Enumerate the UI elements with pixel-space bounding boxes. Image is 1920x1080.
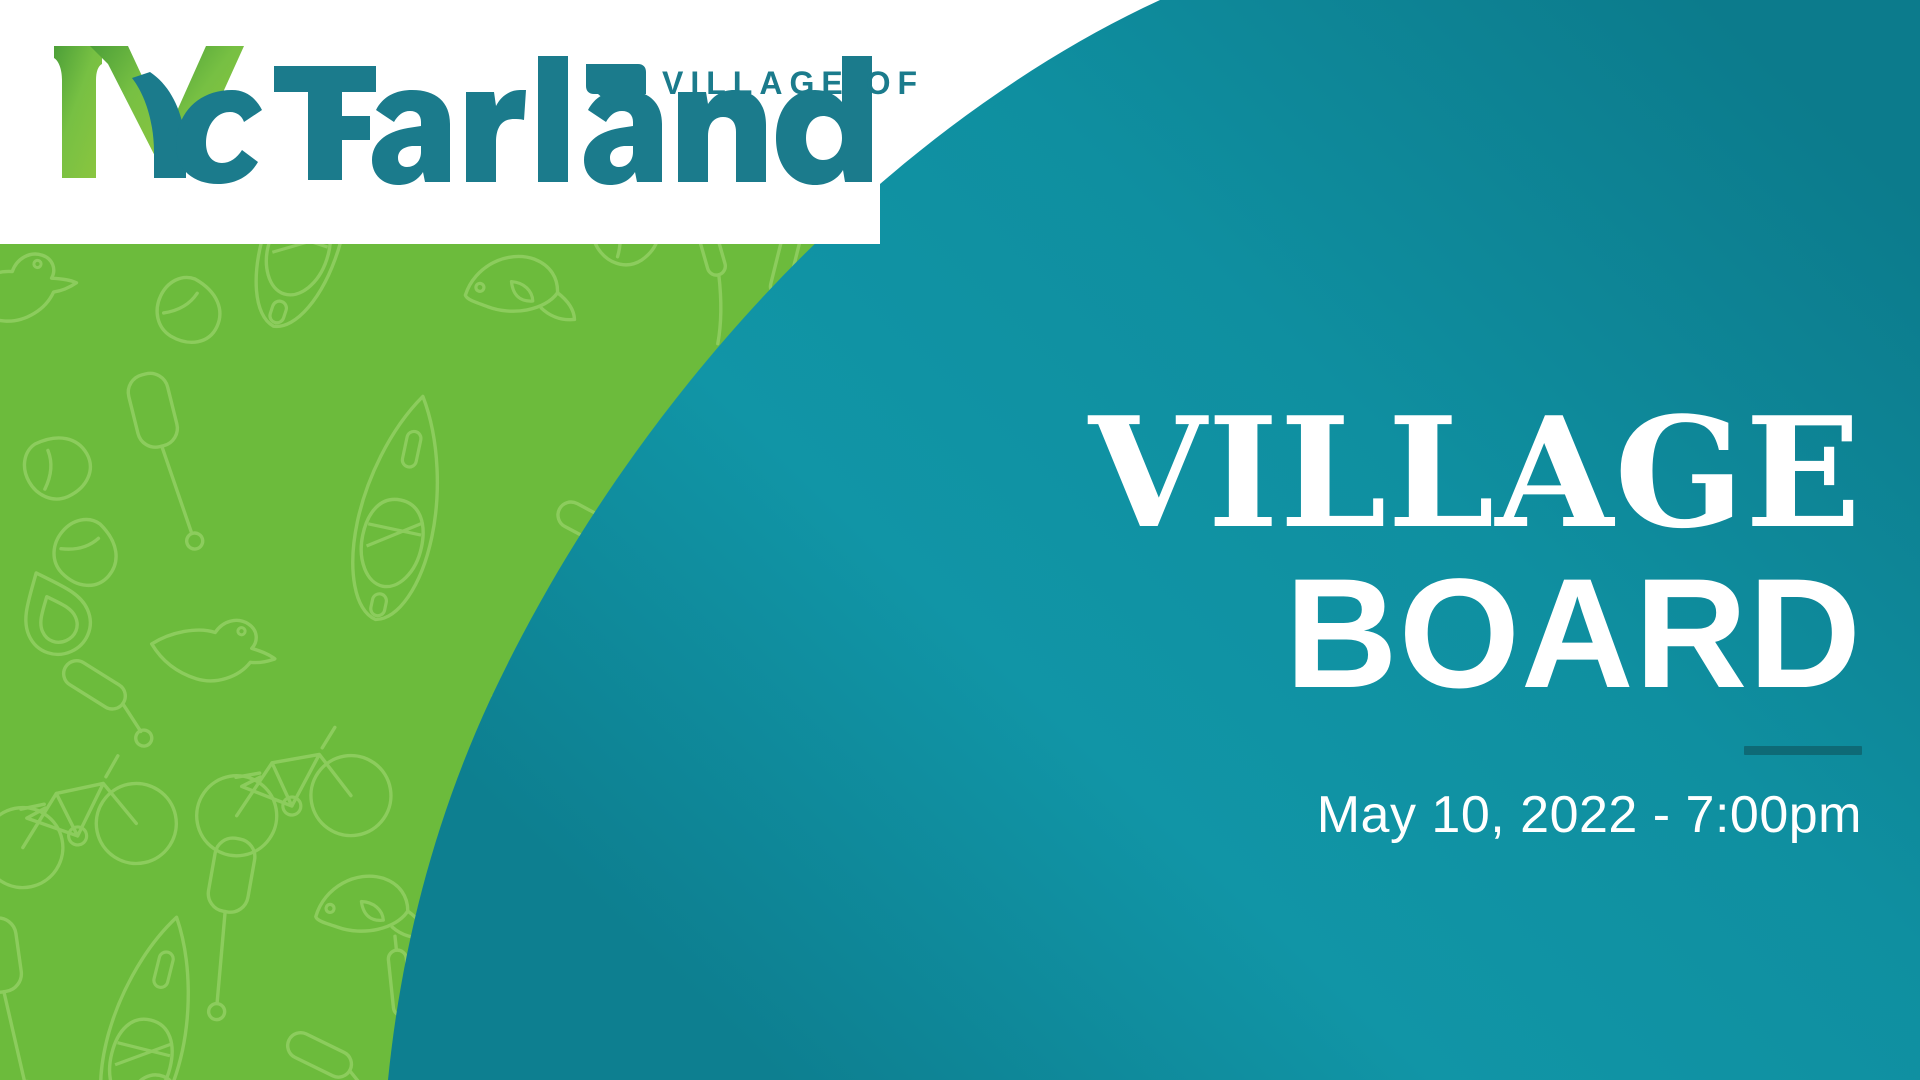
hero-title-block: VILLAGE BOARD May 10, 2022 - 7:00pm	[742, 400, 1862, 845]
hero-date-text: May 10, 2022 - 7:00pm	[742, 785, 1862, 845]
hero-title-line-1: VILLAGE	[742, 400, 1862, 546]
logo-eyebrow-text: VILLAGE OF	[662, 65, 924, 101]
village-board-banner: VILLAGE OF VILLAGE BOARD May 10, 2022 - …	[0, 0, 1920, 1080]
mcfarland-logo[interactable]: VILLAGE OF	[46, 28, 946, 204]
hero-divider-rule	[1744, 746, 1862, 755]
hero-title-line-2: BOARD	[742, 556, 1862, 712]
